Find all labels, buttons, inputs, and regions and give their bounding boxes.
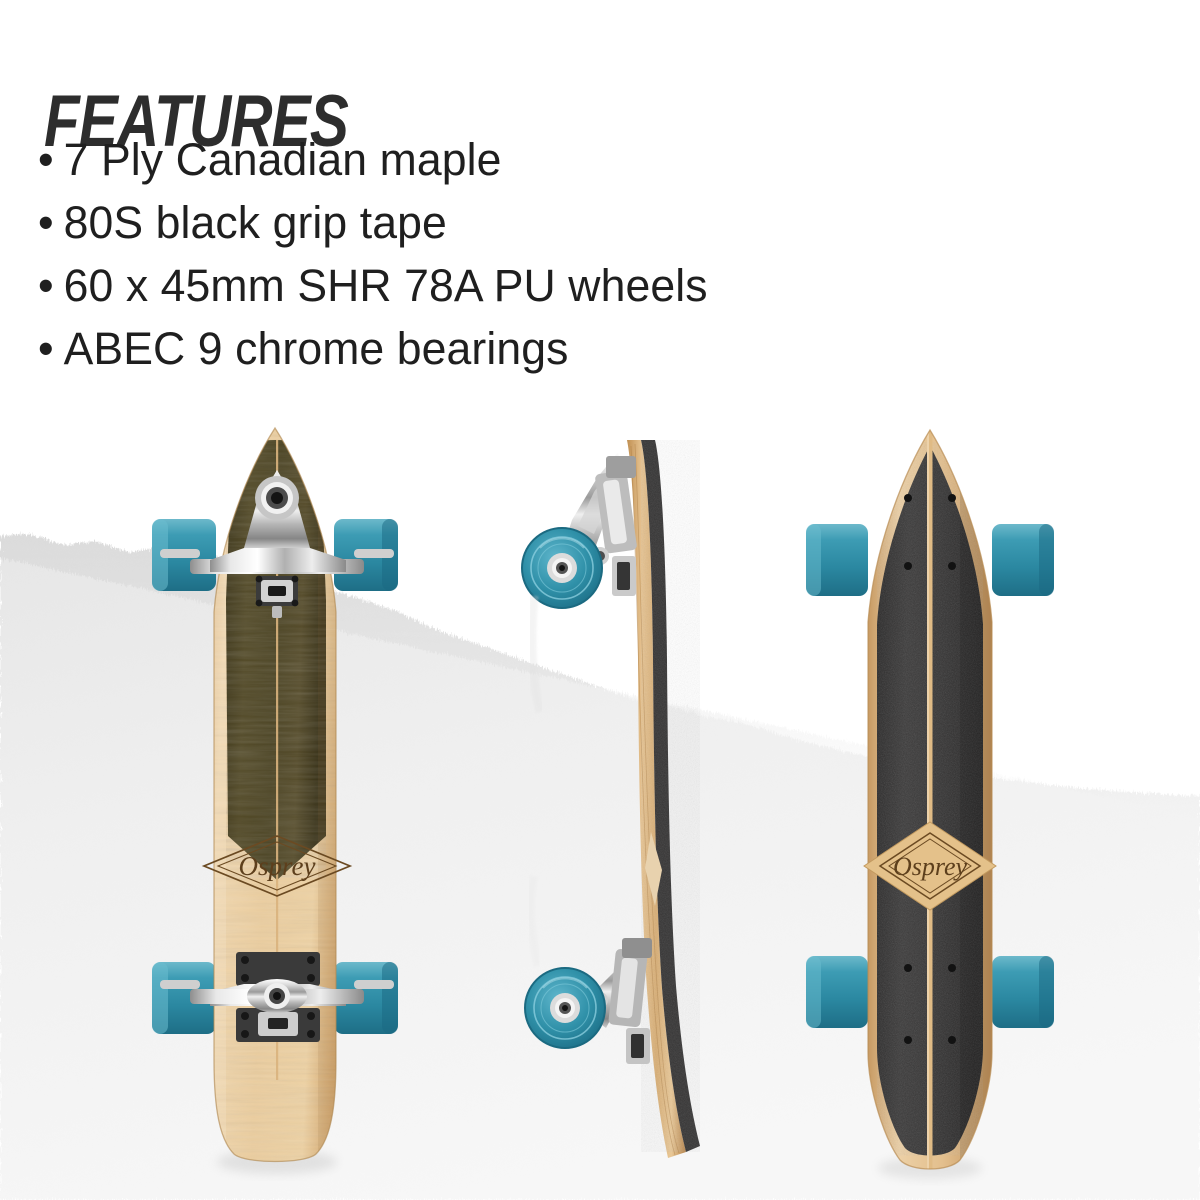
feature-text: 60 x 45mm SHR 78A PU wheels	[64, 260, 708, 311]
feature-list-item: •7 Ply Canadian maple	[38, 128, 708, 191]
feature-text: ABEC 9 chrome bearings	[64, 323, 569, 374]
bullet-icon: •	[38, 128, 54, 191]
feature-list-item: •ABEC 9 chrome bearings	[38, 317, 708, 380]
skateboard-top-grip-view: Osprey	[806, 430, 1054, 1179]
rear-wheel-side-view	[525, 876, 605, 1048]
feature-list: •7 Ply Canadian maple •80S black grip ta…	[38, 128, 714, 380]
bullet-icon: •	[38, 254, 54, 317]
osprey-logo-text-left: Osprey	[239, 851, 316, 881]
feature-text: 7 Ply Canadian maple	[64, 134, 502, 185]
feature-list-item: •80S black grip tape	[38, 191, 708, 254]
product-feature-graphic: Osprey	[0, 0, 1200, 1200]
grip-tape-surface	[877, 430, 1000, 1175]
feature-text: 80S black grip tape	[64, 197, 447, 248]
osprey-logo-text-right: Osprey	[893, 852, 968, 881]
bullet-icon: •	[38, 191, 54, 254]
skateboard-bottom-view: Osprey	[152, 420, 398, 1180]
front-wheel-side-view	[522, 528, 602, 712]
skateboard-side-profile-view	[522, 440, 700, 1158]
feature-list-item: •60 x 45mm SHR 78A PU wheels	[38, 254, 708, 317]
bullet-icon: •	[38, 317, 54, 380]
